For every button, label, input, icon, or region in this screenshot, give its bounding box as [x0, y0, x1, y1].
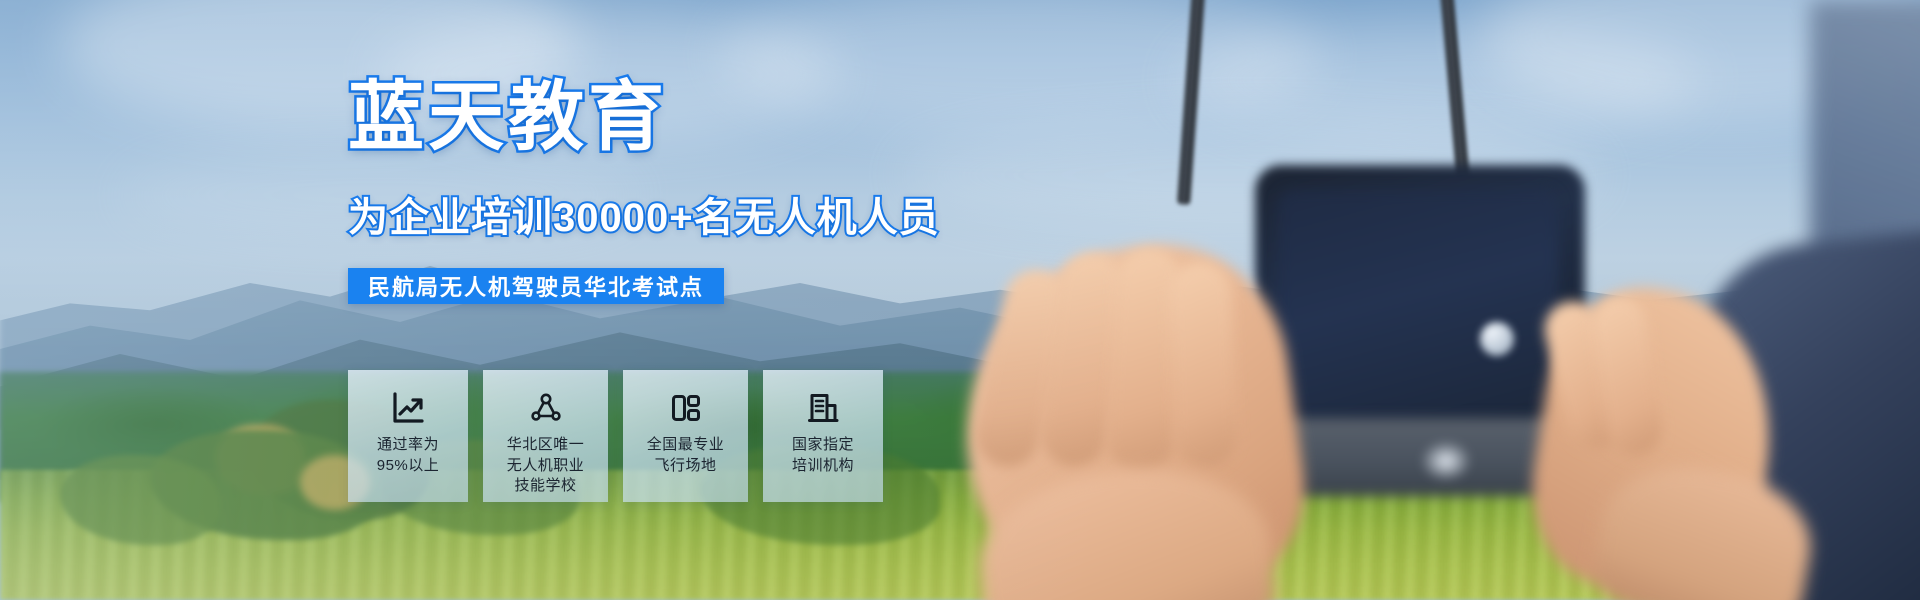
- status-badge-label: 民航局无人机驾驶员华北考试点: [368, 270, 704, 302]
- feature-card-text: 国家指定 培训机构: [792, 435, 854, 476]
- status-badge: 民航局无人机驾驶员华北考试点: [348, 268, 724, 304]
- hero-banner: 蓝天教育 为企业培训30000+名无人机人员 民航局无人机驾驶员华北考试点 通过…: [0, 0, 1920, 600]
- feature-card-national-institution[interactable]: 国家指定 培训机构: [763, 370, 883, 502]
- feature-card-line: 全国最专业: [647, 435, 725, 456]
- banner-title: 蓝天教育: [348, 80, 668, 156]
- network-nodes-icon: [528, 390, 564, 426]
- feature-card-text: 华北区唯一 无人机职业 技能学校: [507, 435, 585, 497]
- feature-card-line: 95%以上: [377, 456, 440, 477]
- layout-panels-icon: [668, 390, 704, 426]
- feature-card-text: 全国最专业 飞行场地: [647, 435, 725, 476]
- feature-card-line: 国家指定: [792, 435, 854, 456]
- feature-card-line: 通过率为: [377, 435, 440, 456]
- feature-card-flight-field[interactable]: 全国最专业 飞行场地: [623, 370, 748, 502]
- feature-card-line: 飞行场地: [647, 456, 725, 477]
- feature-card-list: 通过率为 95%以上 华北区唯一: [348, 370, 883, 502]
- banner-subtitle: 为企业培训30000+名无人机人员: [348, 198, 940, 238]
- feature-card-only-school[interactable]: 华北区唯一 无人机职业 技能学校: [483, 370, 608, 502]
- banner-content: 蓝天教育 为企业培训30000+名无人机人员 民航局无人机驾驶员华北考试点 通过…: [0, 0, 1920, 600]
- feature-card-line: 华北区唯一: [507, 435, 585, 456]
- building-icon: [805, 390, 841, 426]
- feature-card-line: 技能学校: [507, 476, 585, 497]
- feature-card-line: 培训机构: [792, 456, 854, 477]
- chart-line-up-icon: [390, 390, 426, 426]
- feature-card-text: 通过率为 95%以上: [377, 435, 440, 476]
- feature-card-line: 无人机职业: [507, 456, 585, 477]
- feature-card-pass-rate[interactable]: 通过率为 95%以上: [348, 370, 468, 502]
